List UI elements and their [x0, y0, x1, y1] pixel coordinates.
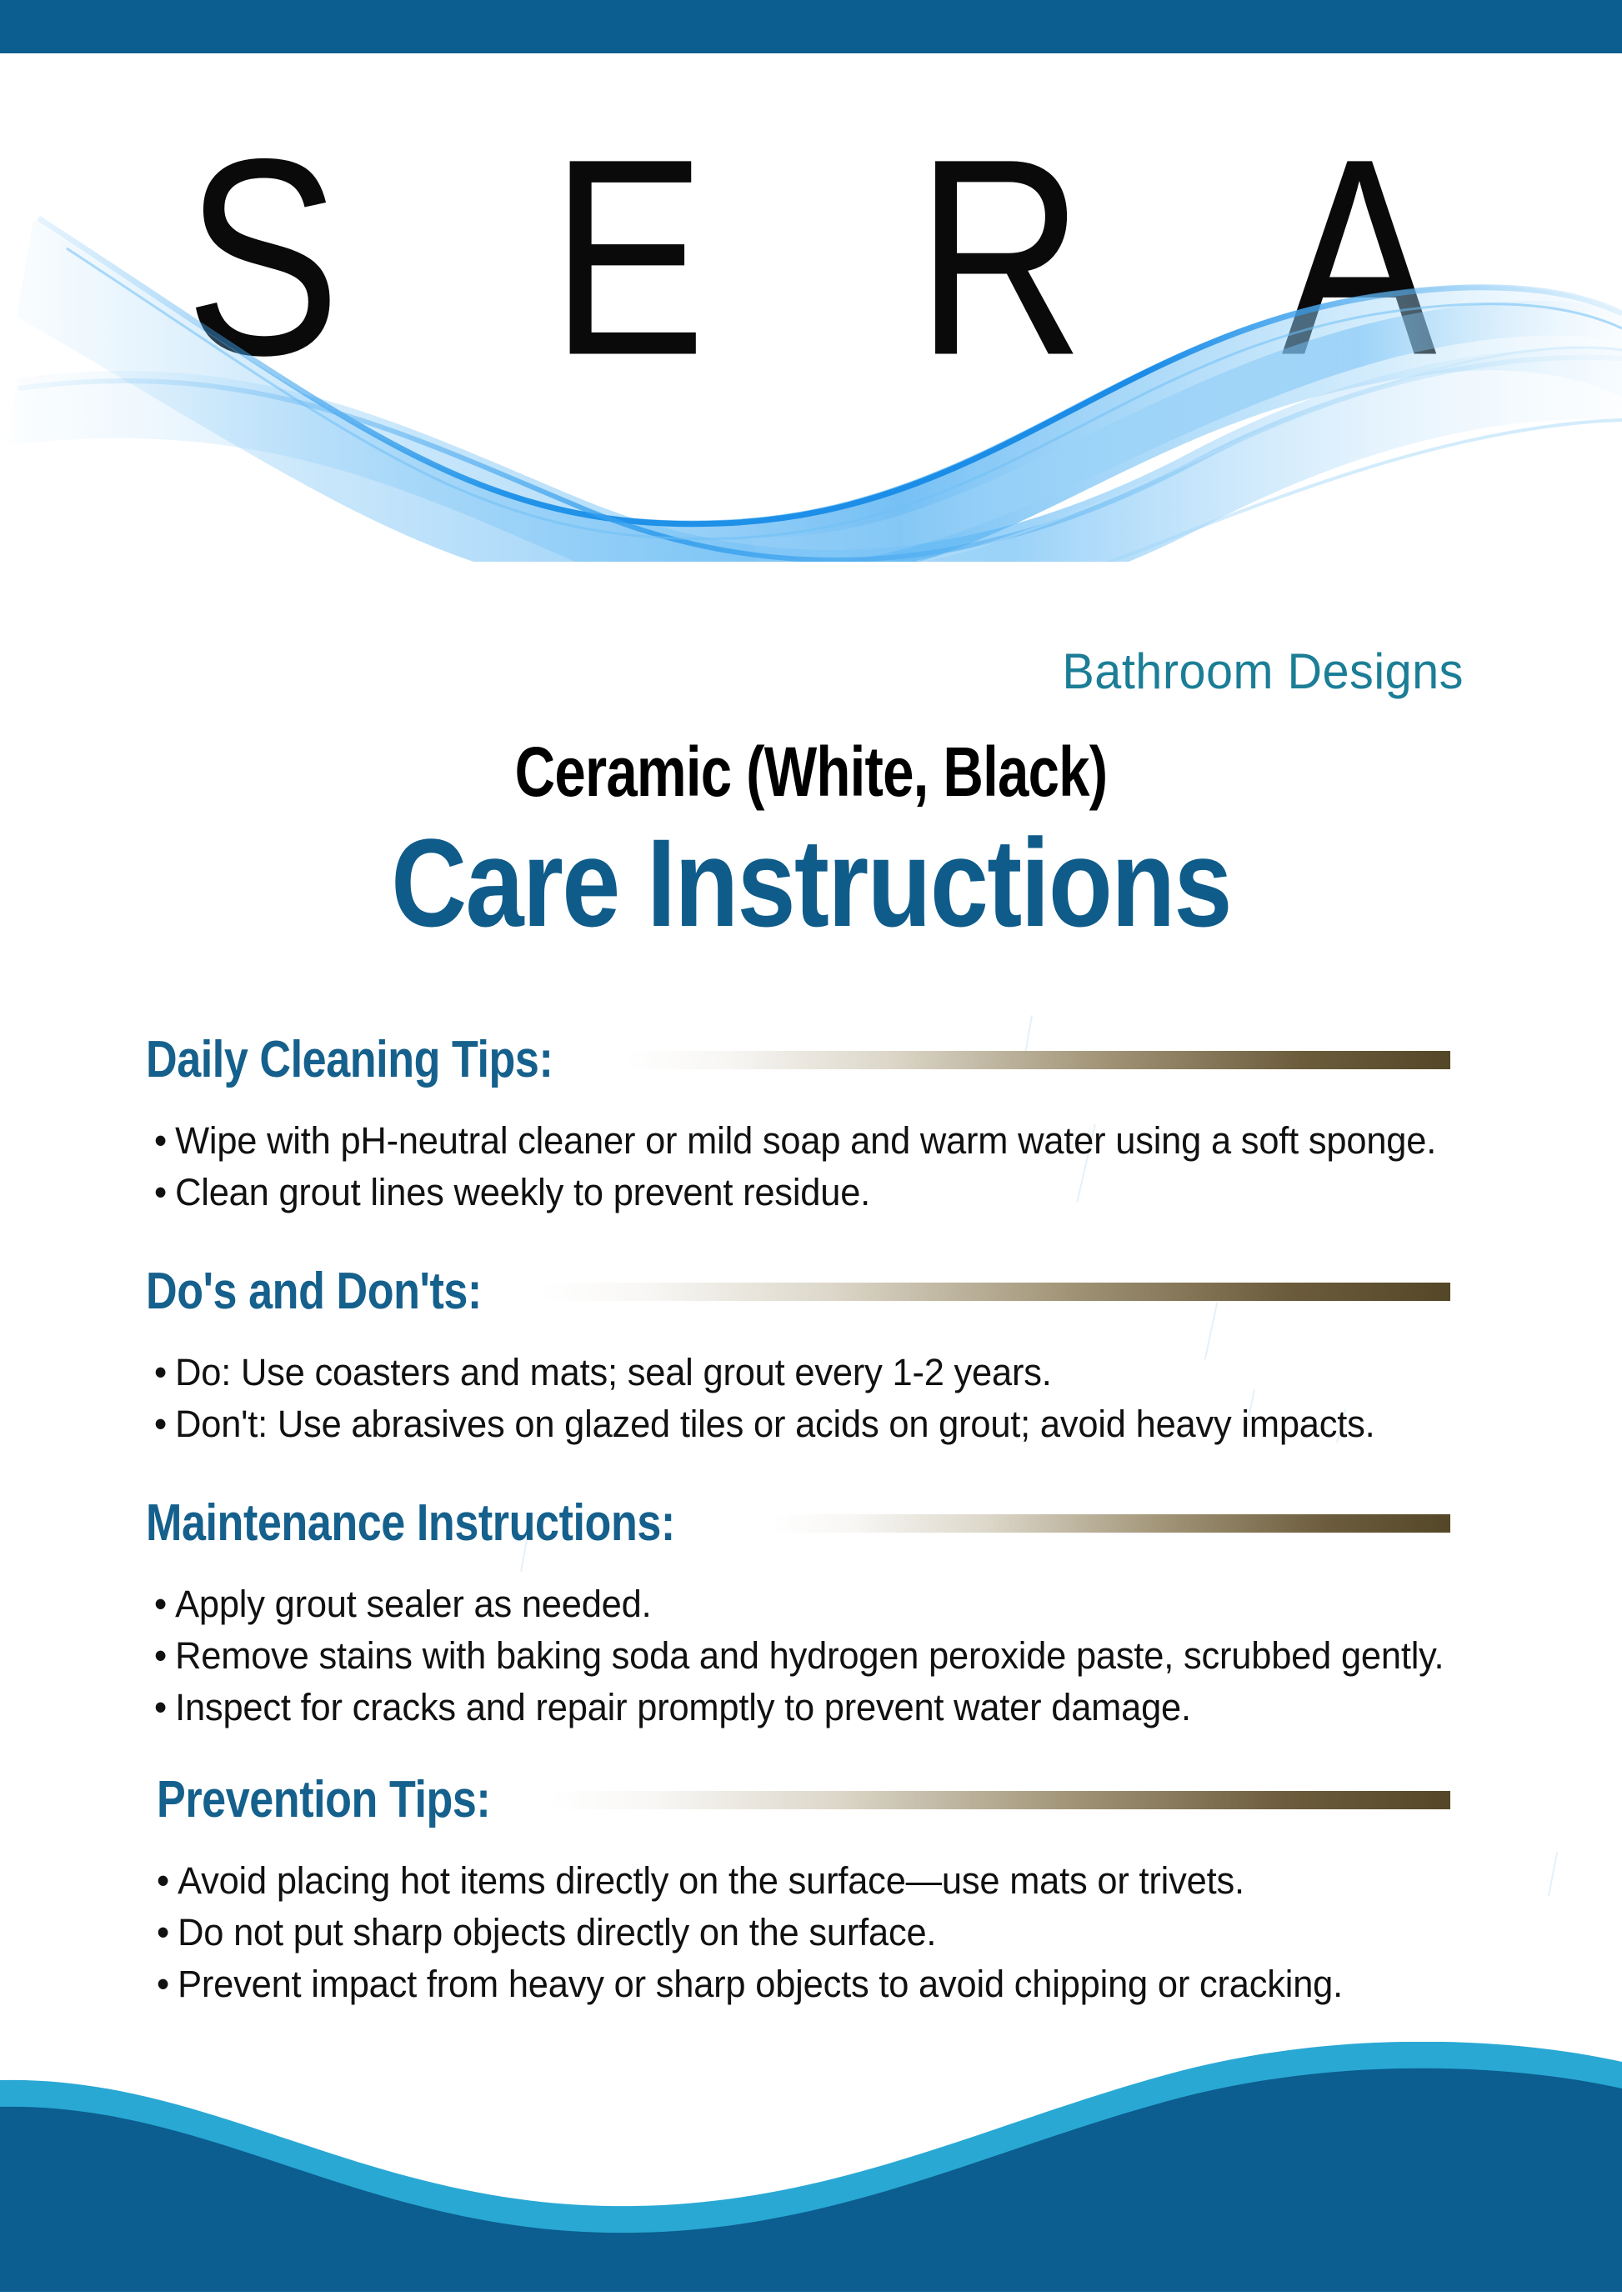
bullet-icon: • — [157, 1907, 178, 1958]
brand-tagline: Bathroom Designs — [65, 645, 1622, 698]
section-heading-row: Do's and Don'ts: — [0, 1262, 1622, 1322]
sections-list: Daily Cleaning Tips: •Wipe with pH-neutr… — [0, 1030, 1622, 2010]
section-heading-row: Prevention Tips: — [0, 1770, 1622, 1830]
bullet-icon: • — [154, 1167, 175, 1218]
list-item: •Avoid placing hot items directly on the… — [157, 1855, 1474, 1907]
top-accent-bar — [0, 0, 1622, 53]
footer-wave-graphic — [0, 2042, 1622, 2292]
bullet-icon: • — [154, 1630, 175, 1682]
list-item-text: Prevent impact from heavy or sharp objec… — [178, 1963, 1343, 2005]
section-rule — [549, 1791, 1450, 1809]
footer-wave-dark — [0, 2068, 1622, 2292]
section-bullets: •Apply grout sealer as needed. •Remove s… — [0, 1578, 1622, 1733]
list-item: •Clean grout lines weekly to prevent res… — [154, 1167, 1474, 1218]
section-spacer — [0, 1450, 1622, 1493]
bullet-icon: • — [154, 1115, 175, 1167]
brand-header: S E R A — [0, 53, 1622, 703]
list-item-text: Do: Use coasters and mats; seal grout ev… — [175, 1351, 1052, 1393]
section-bullets: •Wipe with pH-neutral cleaner or mild so… — [0, 1115, 1622, 1218]
list-item: •Prevent impact from heavy or sharp obje… — [157, 1958, 1474, 2010]
list-item: •Do: Use coasters and mats; seal grout e… — [154, 1347, 1474, 1398]
list-item-text: Don't: Use abrasives on glazed tiles or … — [175, 1403, 1374, 1445]
section-daily-cleaning-tips: Daily Cleaning Tips: •Wipe with pH-neutr… — [0, 1030, 1622, 1218]
section-heading-row: Daily Cleaning Tips: — [0, 1030, 1622, 1090]
list-item-text: Inspect for cracks and repair promptly t… — [175, 1686, 1191, 1728]
section-prevention-tips: Prevention Tips: •Avoid placing hot item… — [0, 1770, 1622, 2010]
page-title: Care Instructions — [130, 815, 1493, 950]
list-item-text: Do not put sharp objects directly on the… — [178, 1911, 936, 1953]
product-subject: Ceramic (White, Black) — [163, 733, 1460, 810]
list-item: •Remove stains with baking soda and hydr… — [154, 1630, 1474, 1682]
poster-page: S E R A — [0, 0, 1622, 2292]
list-item: •Don't: Use abrasives on glazed tiles or… — [154, 1398, 1474, 1450]
section-bullets: •Do: Use coasters and mats; seal grout e… — [0, 1347, 1622, 1450]
list-item: •Do not put sharp objects directly on th… — [157, 1907, 1474, 1958]
list-item: •Inspect for cracks and repair promptly … — [154, 1682, 1474, 1733]
footer-wave-svg — [0, 2042, 1622, 2292]
list-item-text: Remove stains with baking soda and hydro… — [175, 1634, 1444, 1677]
section-bullets: •Avoid placing hot items directly on the… — [0, 1855, 1622, 2010]
section-spacer — [0, 1733, 1622, 1770]
bullet-icon: • — [154, 1398, 175, 1450]
section-rule — [541, 1283, 1450, 1301]
section-maintenance-instructions: Maintenance Instructions: •Apply grout s… — [0, 1493, 1622, 1733]
section-heading-row: Maintenance Instructions: — [0, 1493, 1622, 1553]
bullet-icon: • — [154, 1682, 175, 1733]
wave-ribbon-svg — [0, 170, 1622, 562]
section-heading: Daily Cleaning Tips: — [146, 1030, 553, 1090]
section-rule — [625, 1051, 1450, 1069]
bullet-icon: • — [157, 1855, 178, 1907]
wave-ribbon-graphic — [0, 170, 1622, 562]
list-item: •Wipe with pH-neutral cleaner or mild so… — [154, 1115, 1474, 1167]
bullet-icon: • — [154, 1578, 175, 1630]
section-rule — [771, 1514, 1450, 1533]
section-spacer — [0, 1218, 1622, 1262]
list-item-text: Clean grout lines weekly to prevent resi… — [175, 1171, 870, 1213]
section-dos-and-donts: Do's and Don'ts: •Do: Use coasters and m… — [0, 1262, 1622, 1450]
section-heading: Prevention Tips: — [157, 1770, 490, 1830]
list-item-text: Avoid placing hot items directly on the … — [178, 1859, 1244, 1902]
bullet-icon: • — [157, 1958, 178, 2010]
list-item-text: Apply grout sealer as needed. — [175, 1583, 651, 1625]
section-heading: Maintenance Instructions: — [146, 1493, 675, 1553]
list-item: •Apply grout sealer as needed. — [154, 1578, 1474, 1630]
section-heading: Do's and Don'ts: — [146, 1262, 482, 1322]
bullet-icon: • — [154, 1347, 175, 1398]
list-item-text: Wipe with pH-neutral cleaner or mild soa… — [175, 1119, 1436, 1162]
